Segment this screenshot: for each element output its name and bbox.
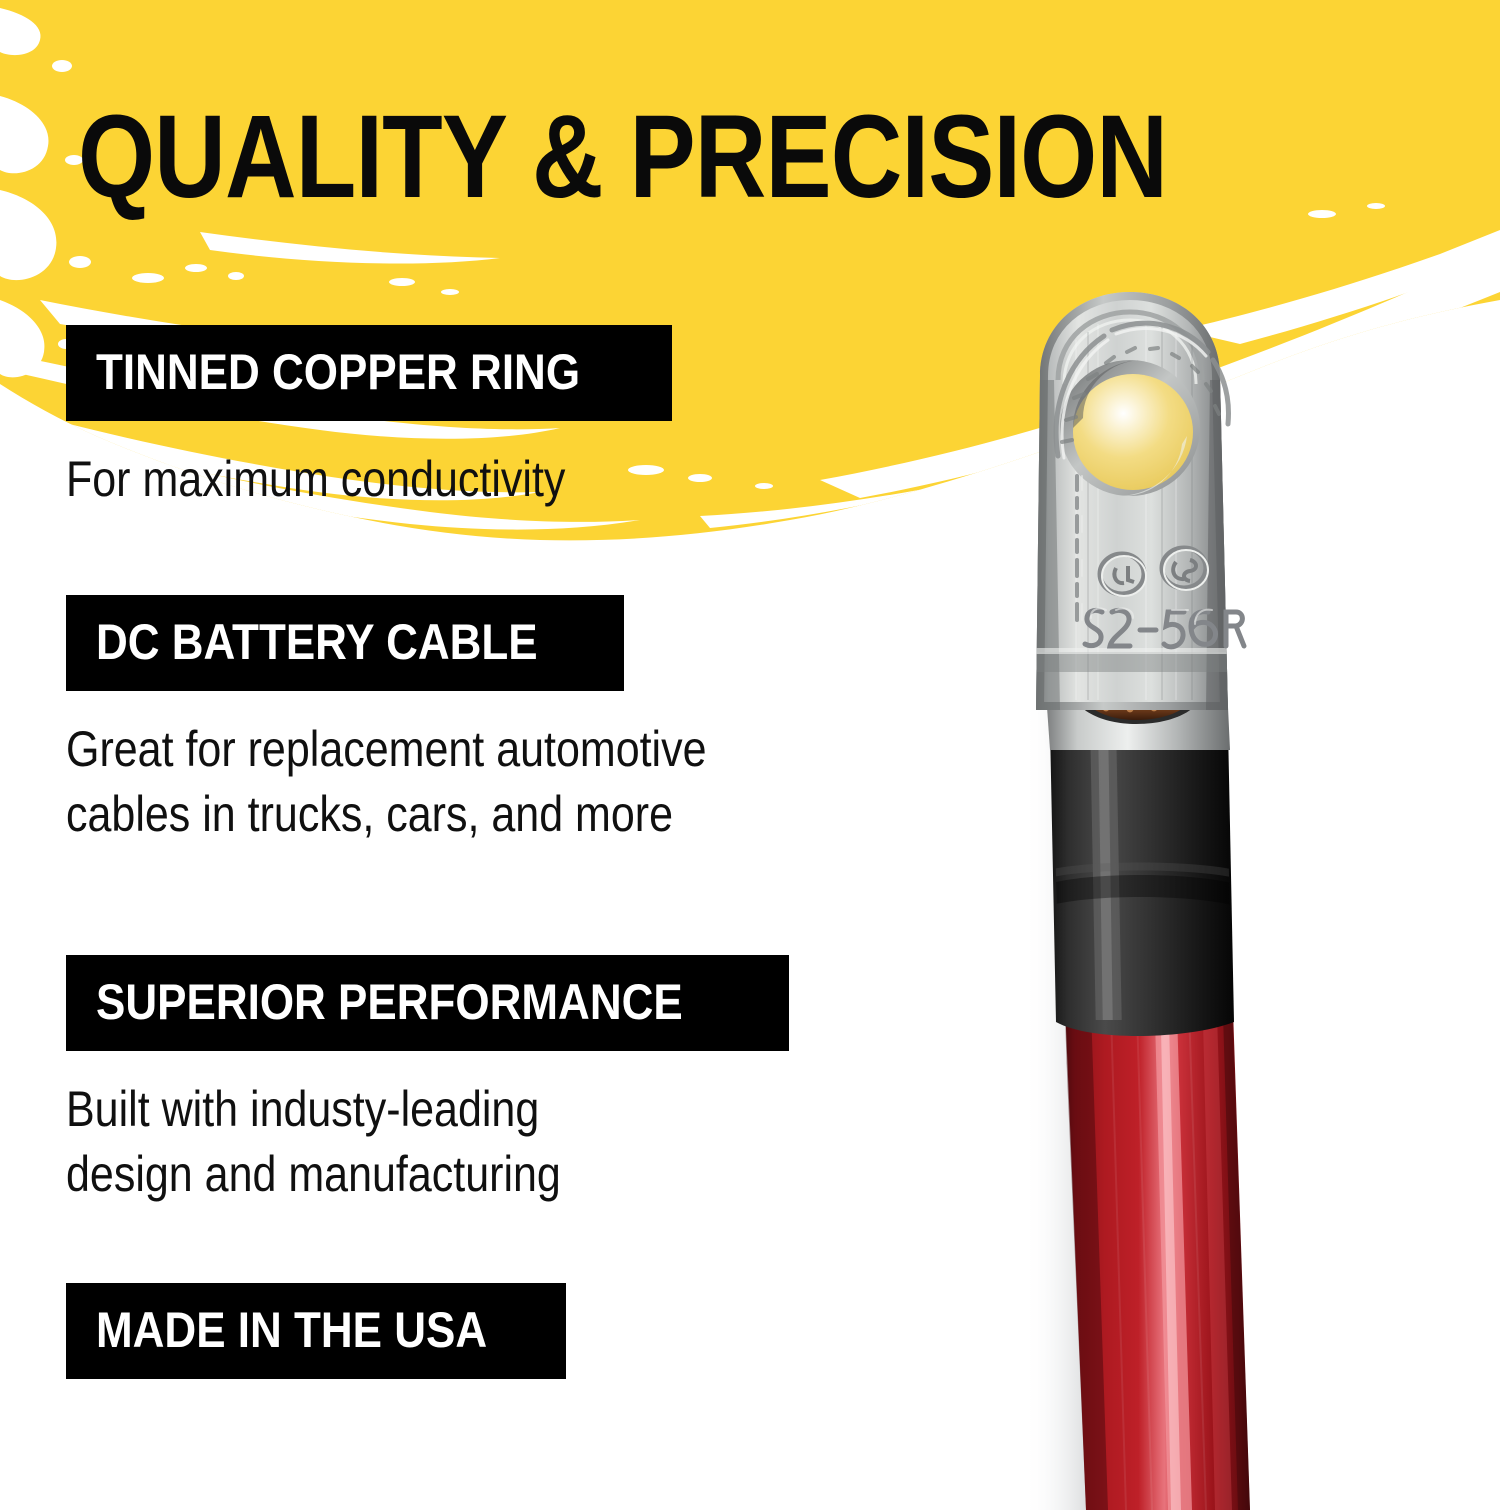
feature-description-line: Great for replacement automotive <box>66 717 707 782</box>
feature-description-line: Built with industy-leading <box>66 1077 688 1142</box>
tinned-copper-ring-terminal <box>1036 292 1244 750</box>
feature-tag-label: DC BATTERY CABLE <box>96 617 538 667</box>
feature-tag-label: MADE IN THE USA <box>96 1305 487 1355</box>
feature-block-made-in-the-usa: MADE IN THE USA <box>66 1283 566 1379</box>
feature-tag: DC BATTERY CABLE <box>66 595 624 691</box>
heat-shrink-sleeve <box>1048 710 1236 1036</box>
feature-description: For maximum conductivity <box>66 447 672 512</box>
feature-block-dc-battery-cable: DC BATTERY CABLE Great for replacement a… <box>66 595 811 847</box>
feature-block-tinned-copper-ring: TINNED COPPER RING For maximum conductiv… <box>66 325 672 512</box>
feature-description-line: For maximum conductivity <box>66 447 587 512</box>
feature-block-superior-performance: SUPERIOR PERFORMANCE Built with industy-… <box>66 955 789 1207</box>
feature-tag-label: TINNED COPPER RING <box>96 347 580 397</box>
feature-description: Built with industy-leading design and ma… <box>66 1077 789 1207</box>
feature-description-line: cables in trucks, cars, and more <box>66 782 707 847</box>
feature-tag: SUPERIOR PERFORMANCE <box>66 955 789 1051</box>
feature-description-line: design and manufacturing <box>66 1142 688 1207</box>
feature-list: TINNED COPPER RING For maximum conductiv… <box>0 0 1000 1500</box>
feature-description: Great for replacement automotive cables … <box>66 717 811 847</box>
red-battery-cable <box>1064 980 1250 1510</box>
feature-tag-label: SUPERIOR PERFORMANCE <box>96 977 683 1027</box>
product-photo-battery-cable <box>940 280 1420 1510</box>
feature-tag: TINNED COPPER RING <box>66 325 672 421</box>
feature-tag: MADE IN THE USA <box>66 1283 566 1379</box>
